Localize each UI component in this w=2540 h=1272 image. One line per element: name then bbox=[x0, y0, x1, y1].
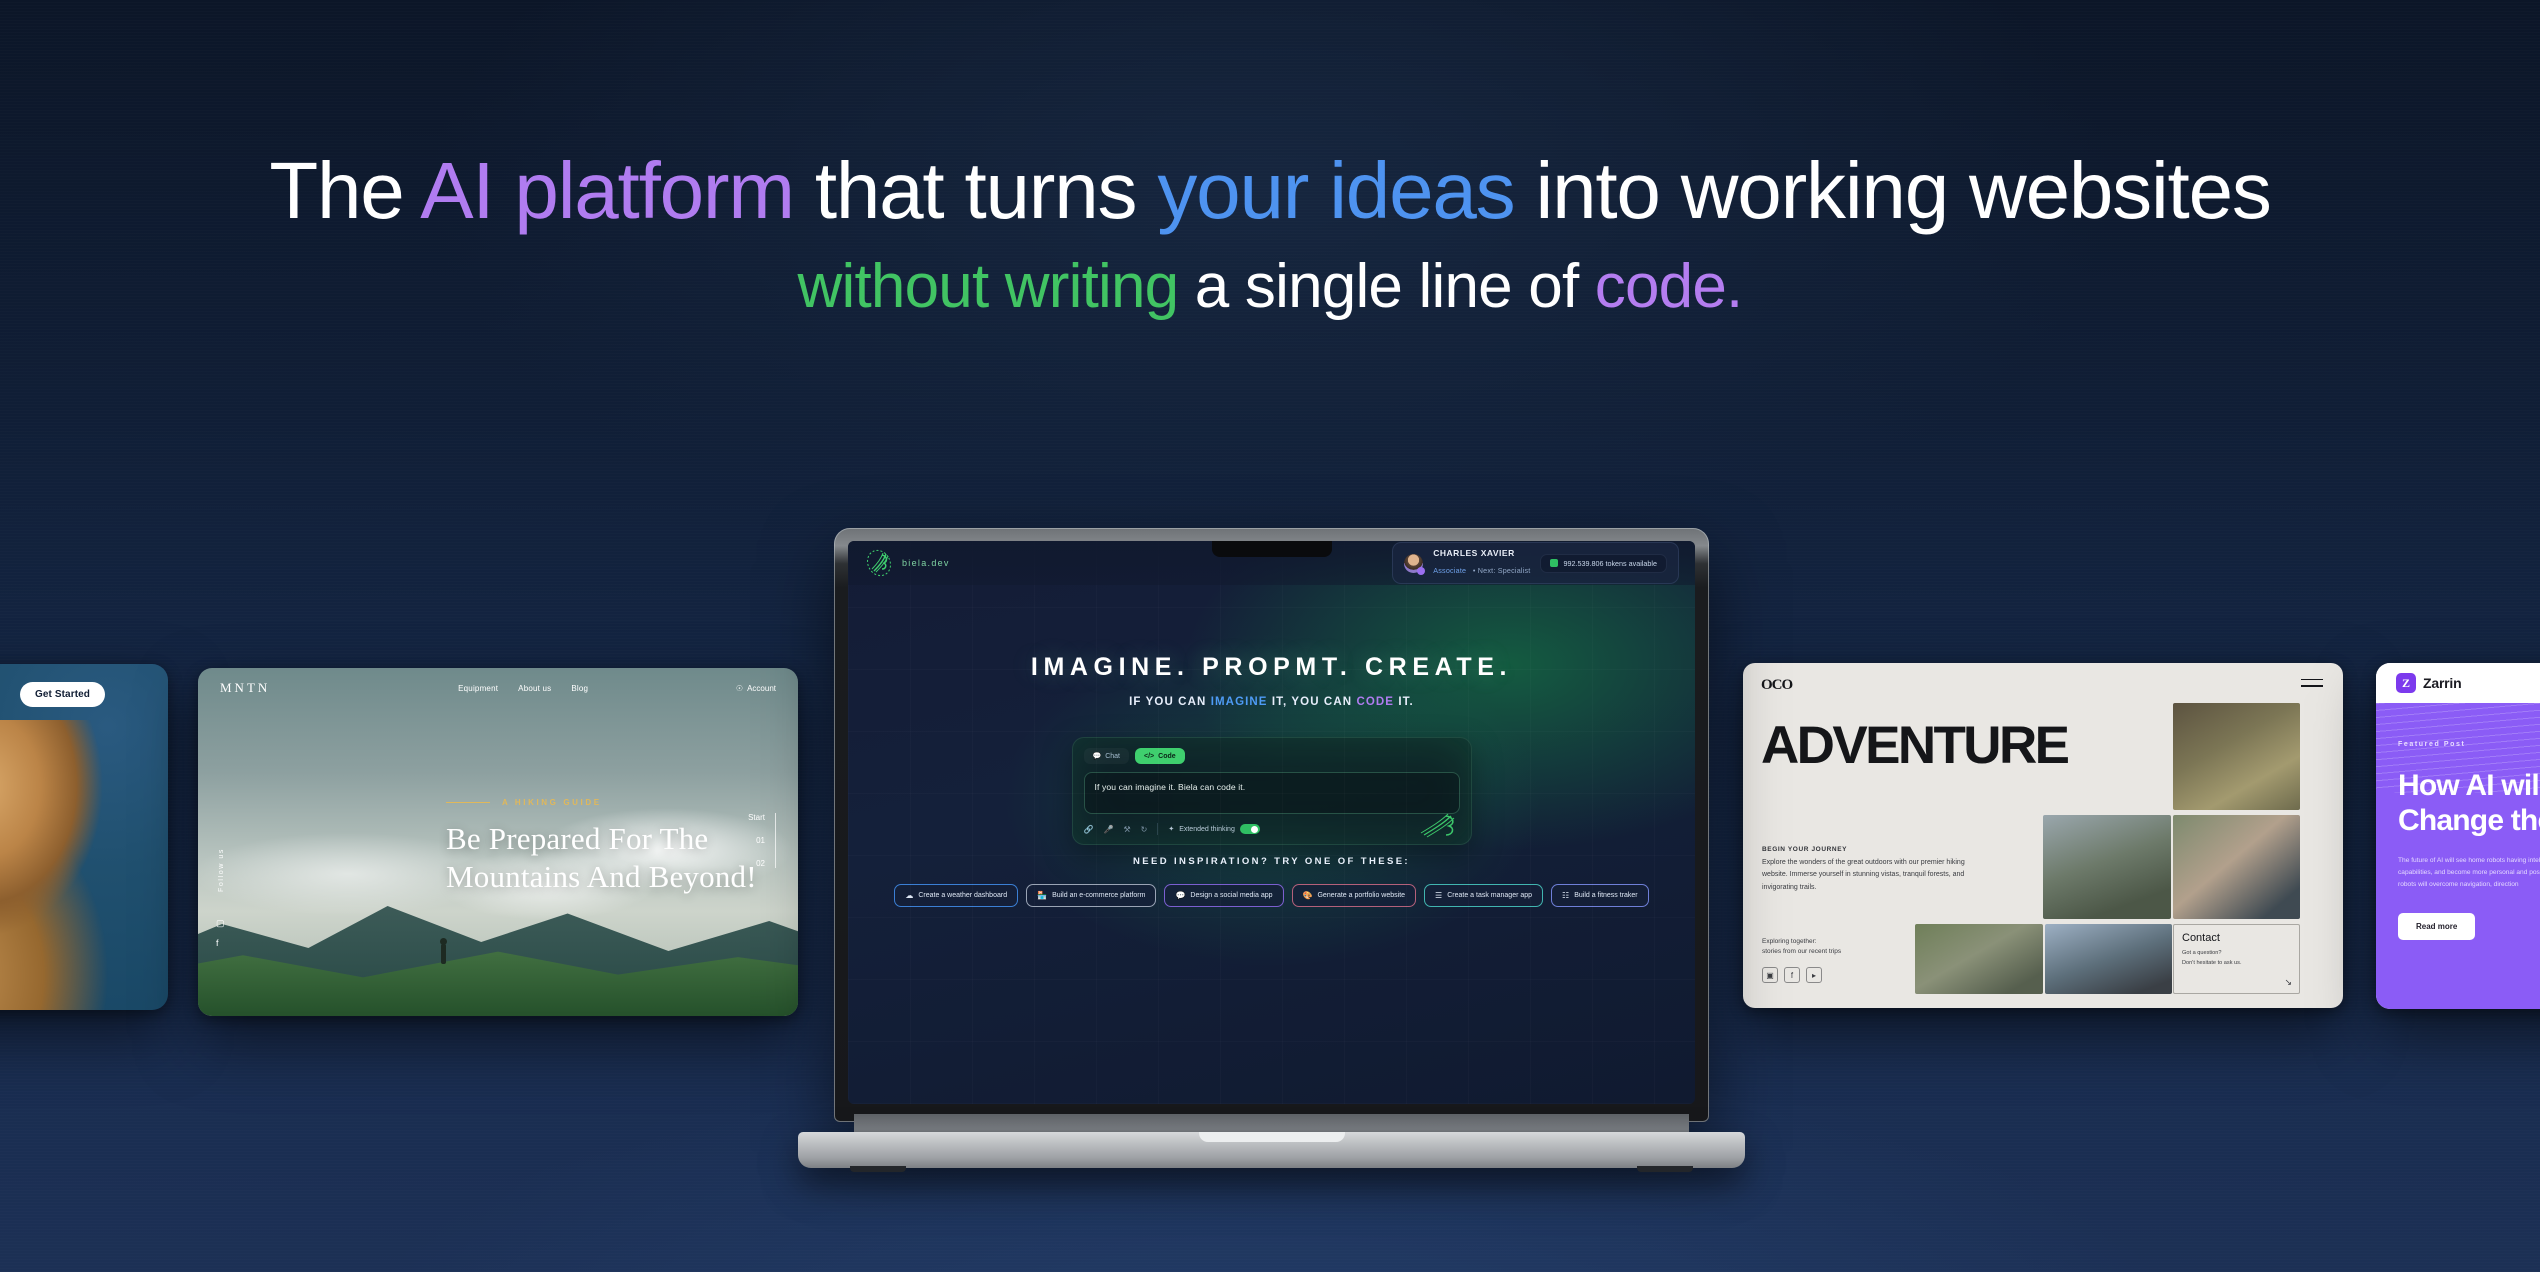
headline-highlight-your-ideas: your ideas bbox=[1157, 146, 1514, 235]
biela-leaf-watermark-icon bbox=[1418, 813, 1458, 839]
instagram-icon[interactable]: ▢ bbox=[216, 918, 226, 928]
zarrin-featured-post: Featured Post How AI will Change the The… bbox=[2376, 703, 2540, 1009]
headline-text-single-line-of: a single line of bbox=[1178, 252, 1594, 321]
chip-social-media-app-label: Design a social media app bbox=[1190, 892, 1272, 899]
tab-chat[interactable]: 💬 Chat bbox=[1084, 748, 1130, 764]
mntn-social-icons[interactable]: ▢ f bbox=[216, 918, 226, 948]
tab-chat-label: Chat bbox=[1105, 753, 1120, 760]
tab-code[interactable]: </> Code bbox=[1135, 748, 1185, 764]
dog-photo bbox=[0, 720, 122, 1010]
user-role: Associate • Next: Specialist bbox=[1433, 566, 1530, 575]
mntn-step-02: 02 bbox=[756, 859, 765, 868]
composer-toolbar: 🔗 🎤 ⚒ ↻ ✦ Extended thinking bbox=[1084, 823, 1460, 835]
user-role-next: • Next: Specialist bbox=[1473, 566, 1531, 575]
app-hero-subtitle: IF YOU CAN IMAGINE IT, YOU CAN CODE IT. bbox=[848, 696, 1695, 708]
chip-weather-dashboard[interactable]: ☁ Create a weather dashboard bbox=[894, 884, 1018, 907]
chat-bubble-icon: 💬 bbox=[1175, 891, 1185, 900]
mntn-eyebrow: A HIKING GUIDE bbox=[446, 798, 602, 807]
app-brand[interactable]: biela.dev bbox=[864, 548, 950, 578]
adventure-photo-portrait bbox=[2173, 815, 2300, 919]
chip-ecommerce-platform-label: Build an e-commerce platform bbox=[1052, 892, 1145, 899]
mntn-title: Be Prepared For The Mountains And Beyond… bbox=[446, 820, 776, 896]
subtitle-imagine: IMAGINE bbox=[1211, 696, 1268, 708]
adventure-photo-campsite bbox=[1915, 924, 2043, 994]
tab-code-label: Code bbox=[1158, 753, 1176, 760]
app-hero-title: IMAGINE. PROPMT. CREATE. bbox=[848, 653, 1695, 682]
subtitle-part-3: IT. bbox=[1394, 696, 1414, 708]
extended-thinking-toggle[interactable] bbox=[1240, 824, 1260, 834]
laptop-camera-notch bbox=[1212, 541, 1332, 557]
headline-line-2: without writing a single line of code. bbox=[0, 248, 2540, 326]
prompt-input[interactable]: If you can imagine it. Biela can code it… bbox=[1084, 772, 1460, 814]
adventure-footer-text: Exploring together: stories from our rec… bbox=[1762, 937, 1841, 958]
user-account-chip[interactable]: CHARLES XAVIER Associate • Next: Special… bbox=[1392, 542, 1679, 583]
showcase-card-mntn[interactable]: MNTN Equipment About us Blog ☉ Account A… bbox=[198, 668, 798, 1016]
chip-fitness-tracker[interactable]: ☷ Build a fitness traker bbox=[1551, 884, 1649, 907]
code-brackets-icon: </> bbox=[1144, 753, 1154, 760]
user-circle-icon: ☉ bbox=[736, 684, 743, 693]
mntn-account-label: Account bbox=[747, 684, 776, 693]
chip-portfolio-website[interactable]: 🎨 Generate a portfolio website bbox=[1292, 884, 1417, 907]
get-started-button[interactable]: Get Started bbox=[20, 682, 105, 707]
mntn-follow-label: Follow us bbox=[218, 848, 225, 892]
mntn-hiker-silhouette bbox=[441, 944, 446, 964]
user-role-current: Associate bbox=[1433, 566, 1466, 575]
sparkle-icon: ✦ bbox=[1168, 825, 1174, 833]
adventure-contact-line-1: Got a question? bbox=[2182, 949, 2291, 959]
user-info: CHARLES XAVIER Associate • Next: Special… bbox=[1433, 548, 1530, 577]
adventure-logo: OCO bbox=[1761, 677, 2325, 694]
cloud-icon: ☁ bbox=[905, 891, 913, 900]
zarrin-logo-icon: Z bbox=[2396, 673, 2416, 693]
extended-thinking-control[interactable]: ✦ Extended thinking bbox=[1168, 824, 1260, 834]
mntn-nav-blog[interactable]: Blog bbox=[571, 684, 588, 693]
prompt-composer[interactable]: 💬 Chat </> Code If you can imagine it. B… bbox=[1072, 737, 1472, 845]
laptop-foot-right bbox=[1637, 1166, 1693, 1172]
page-headline: The AI platform that turns your ideas in… bbox=[0, 150, 2540, 325]
mntn-step-indicator: Start 01 02 bbox=[748, 813, 776, 868]
adventure-footer-line-2: stories from our recent trips bbox=[1762, 947, 1841, 957]
chip-ecommerce-platform[interactable]: 🏪 Build an e-commerce platform bbox=[1026, 884, 1156, 907]
adventure-contact-title: Contact bbox=[2182, 932, 2291, 944]
laptop-screen: biela.dev CHARLES XAVIER Associate • Nex… bbox=[848, 541, 1695, 1104]
chip-task-manager-app[interactable]: ☰ Create a task manager app bbox=[1424, 884, 1543, 907]
laptop-foot-left bbox=[850, 1166, 906, 1172]
adventure-contact-line-2: Don't hesitate to ask us. bbox=[2182, 959, 2291, 969]
tools-icon[interactable]: ⚒ bbox=[1123, 825, 1130, 834]
mntn-nav-equipment[interactable]: Equipment bbox=[458, 684, 498, 693]
showcase-card-zarrin[interactable]: Z Zarrin Featured Post How AI will Chang… bbox=[2376, 663, 2540, 1009]
headline-highlight-code: code. bbox=[1595, 252, 1743, 321]
store-icon: 🏪 bbox=[1037, 891, 1047, 900]
subtitle-part-1: IF YOU CAN bbox=[1129, 696, 1211, 708]
extended-thinking-label: Extended thinking bbox=[1179, 826, 1235, 833]
instagram-icon[interactable]: ▣ bbox=[1762, 967, 1778, 983]
chip-weather-dashboard-label: Create a weather dashboard bbox=[918, 892, 1007, 899]
adventure-contact-box[interactable]: Contact Got a question? Don't hesitate t… bbox=[2173, 924, 2300, 994]
attach-icon[interactable]: 🔗 bbox=[1084, 825, 1094, 834]
toolbar-divider bbox=[1157, 823, 1158, 835]
inspiration-chips[interactable]: ☁ Create a weather dashboard 🏪 Build an … bbox=[848, 884, 1695, 907]
zarrin-post-title-line-2: Change the bbox=[2398, 803, 2540, 838]
arrow-down-right-icon: ↘ bbox=[2284, 977, 2292, 988]
mntn-navbar: MNTN Equipment About us Blog ☉ Account bbox=[198, 668, 798, 708]
chip-task-manager-app-label: Create a task manager app bbox=[1447, 892, 1532, 899]
hero-stage: The AI platform that turns your ideas in… bbox=[0, 0, 2540, 1272]
headline-highlight-without-writing: without writing bbox=[798, 252, 1179, 321]
user-name: CHARLES XAVIER bbox=[1433, 548, 1530, 559]
adventure-photo-viewpoint bbox=[2045, 924, 2172, 994]
refresh-icon[interactable]: ↻ bbox=[1141, 825, 1148, 834]
adventure-body-text: Explore the wonders of the great outdoor… bbox=[1762, 857, 1977, 894]
avatar bbox=[1404, 554, 1423, 573]
adventure-photo-hikers bbox=[2043, 815, 2171, 919]
inspiration-heading: NEED INSPIRATION? TRY ONE OF THESE: bbox=[848, 856, 1695, 867]
microphone-icon[interactable]: 🎤 bbox=[1103, 825, 1113, 834]
hamburger-menu-icon[interactable] bbox=[2301, 679, 2323, 692]
adventure-social-icons[interactable]: ▣ f ▸ bbox=[1762, 967, 1822, 983]
mntn-nav-links: Equipment About us Blog bbox=[458, 684, 588, 693]
adventure-content: OCO ADVENTURE BEGIN YOUR JOURNEY Explore… bbox=[1743, 663, 2343, 1008]
list-icon: ☰ bbox=[1435, 891, 1442, 900]
laptop-base bbox=[798, 1132, 1745, 1168]
mntn-nav-about[interactable]: About us bbox=[518, 684, 551, 693]
chip-fitness-tracker-label: Build a fitness traker bbox=[1574, 892, 1637, 899]
laptop-mockup: biela.dev CHARLES XAVIER Associate • Nex… bbox=[834, 528, 1709, 1128]
showcase-card-adventure[interactable]: OCO ADVENTURE BEGIN YOUR JOURNEY Explore… bbox=[1743, 663, 2343, 1008]
zarrin-navbar: Z Zarrin bbox=[2376, 663, 2540, 703]
mntn-logo: MNTN bbox=[220, 680, 270, 696]
headline-line-1: The AI platform that turns your ideas in… bbox=[0, 150, 2540, 232]
adventure-footer-line-1: Exploring together: bbox=[1762, 937, 1841, 947]
headline-highlight-ai-platform: AI platform bbox=[420, 146, 794, 235]
token-icon bbox=[1550, 559, 1558, 567]
app-hero: IMAGINE. PROPMT. CREATE. IF YOU CAN IMAG… bbox=[848, 653, 1695, 708]
zarrin-eyebrow: Featured Post bbox=[2398, 741, 2540, 748]
rule-line bbox=[446, 802, 490, 803]
chip-social-media-app[interactable]: 💬 Design a social media app bbox=[1164, 884, 1283, 907]
facebook-icon[interactable]: f bbox=[1784, 967, 1800, 983]
palette-icon: 🎨 bbox=[1303, 891, 1313, 900]
facebook-icon[interactable]: f bbox=[216, 938, 226, 948]
app-brand-name: biela.dev bbox=[902, 558, 950, 568]
laptop-base-notch bbox=[1199, 1132, 1345, 1142]
adventure-photo-forest bbox=[2173, 703, 2300, 810]
subtitle-code: CODE bbox=[1356, 696, 1394, 708]
mntn-step-01: 01 bbox=[756, 836, 765, 845]
headline-text-that-turns: that turns bbox=[794, 146, 1158, 235]
headline-text-into-working-websites: into working websites bbox=[1514, 146, 2270, 235]
read-more-button[interactable]: Read more bbox=[2398, 913, 2475, 940]
subtitle-part-2: IT, YOU CAN bbox=[1268, 696, 1357, 708]
mntn-account-link[interactable]: ☉ Account bbox=[736, 684, 776, 693]
adventure-eyebrow: BEGIN YOUR JOURNEY bbox=[1762, 846, 1847, 853]
token-balance-label: 992.539.806 tokens available bbox=[1563, 559, 1657, 568]
mntn-eyebrow-label: A HIKING GUIDE bbox=[502, 798, 602, 807]
chip-portfolio-website-label: Generate a portfolio website bbox=[1317, 892, 1405, 899]
token-balance[interactable]: 992.539.806 tokens available bbox=[1540, 554, 1667, 573]
adventure-title: ADVENTURE bbox=[1761, 719, 2067, 772]
composer-mode-tabs[interactable]: 💬 Chat </> Code bbox=[1084, 748, 1460, 764]
zarrin-post-excerpt: The future of AI will see home robots ha… bbox=[2398, 855, 2540, 892]
headline-text-the: The bbox=[269, 146, 420, 235]
activity-icon: ☷ bbox=[1562, 891, 1569, 900]
biela-leaf-icon bbox=[864, 548, 894, 578]
mntn-step-start: Start bbox=[748, 813, 765, 822]
youtube-icon[interactable]: ▸ bbox=[1806, 967, 1822, 983]
zarrin-post-title: How AI will Change the bbox=[2398, 768, 2540, 839]
showcase-card-pet[interactable]: Get Started bbox=[0, 664, 168, 1010]
chat-bubble-icon: 💬 bbox=[1093, 752, 1102, 760]
laptop-lid: biela.dev CHARLES XAVIER Associate • Nex… bbox=[834, 528, 1709, 1122]
zarrin-post-title-line-1: How AI will bbox=[2398, 768, 2540, 803]
zarrin-brand-name: Zarrin bbox=[2423, 675, 2461, 691]
